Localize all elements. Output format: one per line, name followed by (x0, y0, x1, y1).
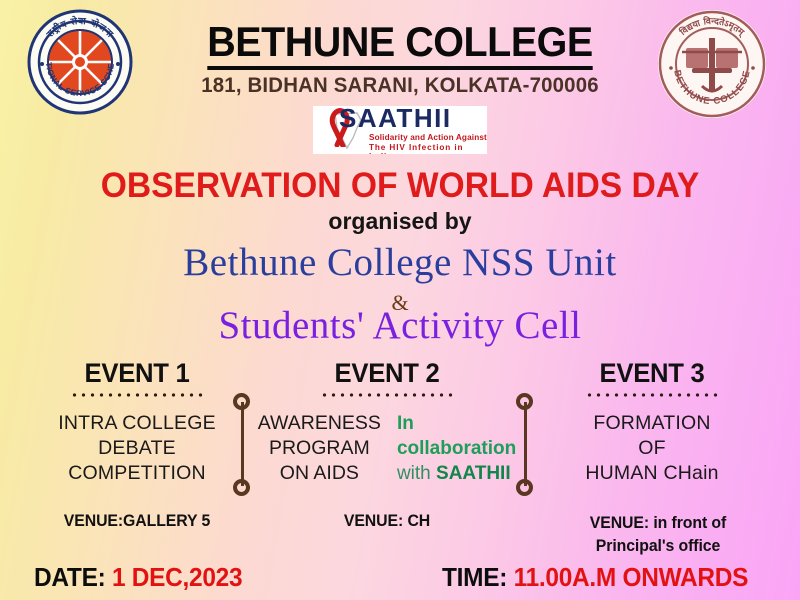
collab-with-text: with (397, 463, 436, 484)
event-3-title: EVENT 3 (533, 358, 771, 389)
college-name-text: BETHUNE COLLEGE (207, 18, 593, 70)
organised-by-label: organised by (0, 208, 800, 235)
event-2-description: AWARENESS PROGRAM ON AIDS (258, 411, 381, 486)
poster-footer: DATE: 1 DEC,2023 TIME: 11.00A.M ONWARDS (0, 562, 800, 600)
organiser-nss-unit: Bethune College NSS Unit (0, 240, 800, 285)
time-value: 11.00A.M ONWARDS (514, 562, 749, 592)
saathii-wordmark: SAATHII (339, 106, 487, 132)
events-section: EVENT 1 INTRA COLLEGE DEBATE COMPETITION… (0, 358, 800, 538)
saathii-logo: SAATHII Solidarity and Action Against Th… (313, 106, 487, 154)
collab-line-2: collaboration (397, 436, 516, 461)
saathii-tagline-2: The HIV Infection in India (369, 143, 487, 154)
event-card-1: EVENT 1 INTRA COLLEGE DEBATE COMPETITION (12, 358, 262, 486)
divider-2-bottom-ring (516, 479, 533, 496)
collab-line-3: with SAATHII (397, 461, 516, 486)
saathii-tagline-1: Solidarity and Action Against (369, 133, 487, 142)
poster-canvas: राष्ट्रीय सेवा योजना NATIONAL SERVICE SC… (0, 0, 800, 600)
event-2-collaboration: In collaboration with SAATHII (397, 411, 516, 486)
collab-line-1: In (397, 411, 516, 436)
time-block: TIME: 11.00A.M ONWARDS (442, 562, 748, 593)
bethune-college-logo: विद्यया विन्दतेऽमृतम् BETHUNE COLLEGE (656, 8, 768, 120)
event-1-dotted-rule (70, 393, 204, 397)
event-2-dotted-rule (320, 393, 454, 397)
date-label: DATE: (34, 562, 105, 592)
divider-1 (233, 393, 251, 496)
event-card-3: EVENT 3 FORMATION OF HUMAN CHain (527, 358, 777, 486)
event-2-venue: VENUE: CH (267, 512, 507, 531)
event-2-title: EVENT 2 (268, 358, 506, 389)
event-1-description: INTRA COLLEGE DEBATE COMPETITION (12, 411, 262, 486)
event-3-description: FORMATION OF HUMAN CHain (527, 411, 777, 486)
divider-1-bottom-ring (233, 479, 250, 496)
divider-2 (516, 393, 534, 496)
organiser-activity-cell: Students' Activity Cell (0, 303, 800, 348)
collab-partner-name: SAATHII (436, 463, 511, 484)
date-block: DATE: 1 DEC,2023 (34, 562, 242, 593)
divider-2-bar (524, 402, 527, 486)
event-headline: OBSERVATION OF WORLD AIDS DAY (16, 166, 784, 206)
event-3-dotted-rule (585, 393, 719, 397)
event-1-title: EVENT 1 (18, 358, 256, 389)
event-card-2: EVENT 2 AWARENESS PROGRAM ON AIDS In col… (262, 358, 512, 486)
date-value: 1 DEC,2023 (112, 562, 242, 592)
event-3-venue: VENUE: in front of Principal's office (532, 512, 784, 558)
time-label: TIME: (442, 562, 507, 592)
event-2-content-row: AWARENESS PROGRAM ON AIDS In collaborati… (262, 411, 512, 486)
event-1-venue: VENUE:GALLERY 5 (17, 512, 257, 531)
divider-1-bar (241, 402, 244, 486)
